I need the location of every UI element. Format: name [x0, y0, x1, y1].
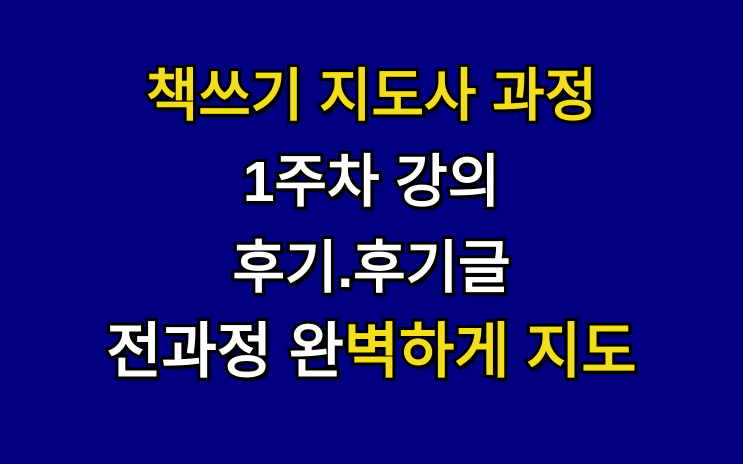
headline-line-2: 1주차 강의 [0, 154, 743, 211]
headline-line-3-segment-1: 후기.후기글 [232, 236, 510, 300]
headline-line-4-segment-1: 전과정 완 [106, 318, 343, 385]
headline-line-2-segment-1: 1주차 강의 [243, 150, 500, 214]
headline-line-4-segment-2: 벽하게 지도 [344, 318, 637, 385]
headline-line-4: 전과정 완벽하게 지도 [0, 322, 743, 382]
promo-title-card: 책쓰기 지도사 과정 1주차 강의 후기.후기글 전과정 완벽하게 지도 [0, 0, 743, 464]
headline-line-1-segment-1: 책쓰기 지도사 과정 [146, 64, 597, 128]
headline-line-1: 책쓰기 지도사 과정 [0, 68, 743, 125]
headline-line-3: 후기.후기글 [0, 240, 743, 297]
